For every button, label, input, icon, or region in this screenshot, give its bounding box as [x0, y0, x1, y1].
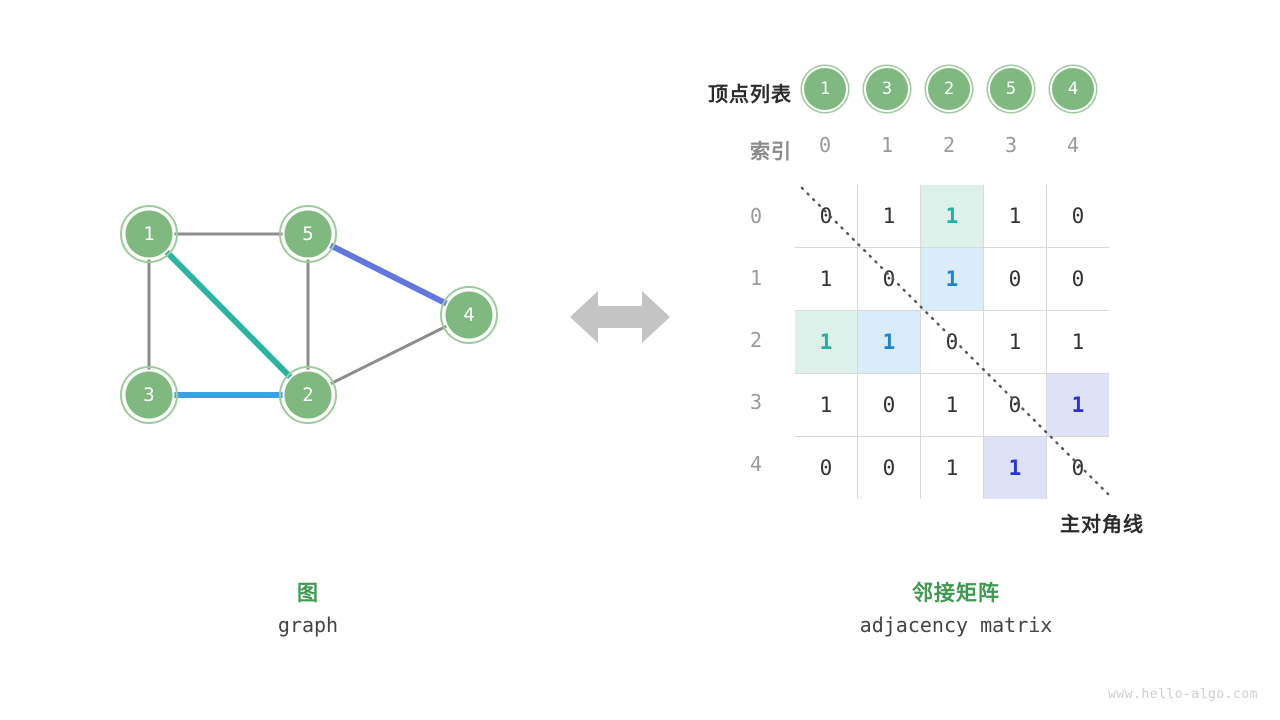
double-arrow-icon	[570, 282, 670, 352]
matrix-cell-4-1[interactable]: 0	[858, 437, 921, 500]
main-diagonal-label: 主对角线	[1060, 508, 1144, 537]
matrix-row: 01110	[795, 185, 1109, 248]
index-row: 索引 01234	[660, 133, 1120, 167]
matrix-cell-2-1[interactable]: 1	[858, 311, 921, 374]
matrix-cell-1-2[interactable]: 1	[921, 248, 984, 311]
matrix-cell-0-4[interactable]: 0	[1047, 185, 1110, 248]
row-index-0: 0	[735, 185, 777, 247]
column-index-1: 1	[866, 133, 908, 157]
vertex-chip-4[interactable]: 4	[1052, 68, 1094, 110]
row-index-3: 3	[735, 371, 777, 433]
index-label: 索引	[660, 135, 792, 164]
graph-node-5[interactable]: 5	[280, 206, 336, 262]
equivalence-arrow	[570, 282, 670, 352]
watermark: www.hello-algo.com	[1108, 687, 1258, 702]
matrix-cell-0-1[interactable]: 1	[858, 185, 921, 248]
graph-caption-cn: 图	[208, 577, 408, 607]
row-index-1: 1	[735, 247, 777, 309]
graph-edge-1-2	[149, 234, 308, 395]
column-index-2: 2	[928, 133, 970, 157]
matrix-row: 10101	[795, 374, 1109, 437]
matrix-row: 11011	[795, 311, 1109, 374]
matrix-cell-2-4[interactable]: 1	[1047, 311, 1110, 374]
adjacency-matrix-table: 0111010100110111010100110	[795, 185, 1109, 499]
graph-svg: 15432	[0, 0, 560, 720]
vertex-chip-2[interactable]: 2	[928, 68, 970, 110]
matrix-cell-4-0[interactable]: 0	[795, 437, 858, 500]
vertex-chip-1[interactable]: 3	[866, 68, 908, 110]
matrix-cell-3-0[interactable]: 1	[795, 374, 858, 437]
column-index-4: 4	[1052, 133, 1094, 157]
graph-node-label: 5	[302, 223, 313, 245]
graph-node-label: 1	[143, 223, 154, 245]
row-index-4: 4	[735, 433, 777, 495]
graph-node-1[interactable]: 1	[121, 206, 177, 262]
diagram-canvas: 15432 顶点列表 13254 索引 01234 01110101001101…	[0, 0, 1280, 720]
matrix-cell-2-2[interactable]: 0	[921, 311, 984, 374]
matrix-cell-4-3[interactable]: 1	[984, 437, 1047, 500]
vertex-chip-3[interactable]: 5	[990, 68, 1032, 110]
graph-node-label: 2	[302, 384, 313, 406]
graph-panel: 15432	[0, 0, 560, 720]
column-index-0: 0	[804, 133, 846, 157]
matrix-cell-3-2[interactable]: 1	[921, 374, 984, 437]
matrix-cell-3-3[interactable]: 0	[984, 374, 1047, 437]
graph-node-label: 4	[463, 304, 474, 326]
adjacency-matrix-panel: 顶点列表 13254 索引 01234 01110101001101110101…	[660, 0, 1280, 720]
matrix-row: 00110	[795, 437, 1109, 500]
matrix-cell-2-3[interactable]: 1	[984, 311, 1047, 374]
graph-node-4[interactable]: 4	[441, 287, 497, 343]
matrix-cell-3-1[interactable]: 0	[858, 374, 921, 437]
matrix-cell-0-2[interactable]: 1	[921, 185, 984, 248]
graph-node-3[interactable]: 3	[121, 367, 177, 423]
matrix-cell-4-2[interactable]: 1	[921, 437, 984, 500]
column-index-3: 3	[990, 133, 1032, 157]
matrix-cell-1-4[interactable]: 0	[1047, 248, 1110, 311]
vertex-list-label: 顶点列表	[660, 78, 792, 107]
matrix-caption-en: adjacency matrix	[806, 613, 1106, 637]
matrix-grid-wrapper: 0111010100110111010100110	[795, 185, 1105, 495]
vertex-list-row: 顶点列表 13254	[660, 68, 1120, 118]
matrix-cell-2-0[interactable]: 1	[795, 311, 858, 374]
graph-node-label: 3	[143, 384, 154, 406]
matrix-cell-0-3[interactable]: 1	[984, 185, 1047, 248]
matrix-cell-0-0[interactable]: 0	[795, 185, 858, 248]
matrix-cell-4-4[interactable]: 0	[1047, 437, 1110, 500]
graph-caption-en: graph	[208, 613, 408, 637]
graph-edge-2-4	[308, 315, 469, 395]
matrix-cell-1-3[interactable]: 0	[984, 248, 1047, 311]
graph-node-2[interactable]: 2	[280, 367, 336, 423]
matrix-cell-1-0[interactable]: 1	[795, 248, 858, 311]
matrix-cell-3-4[interactable]: 1	[1047, 374, 1110, 437]
matrix-row: 10100	[795, 248, 1109, 311]
row-index-2: 2	[735, 309, 777, 371]
matrix-caption-cn: 邻接矩阵	[806, 577, 1106, 607]
vertex-chip-0[interactable]: 1	[804, 68, 846, 110]
matrix-cell-1-1[interactable]: 0	[858, 248, 921, 311]
